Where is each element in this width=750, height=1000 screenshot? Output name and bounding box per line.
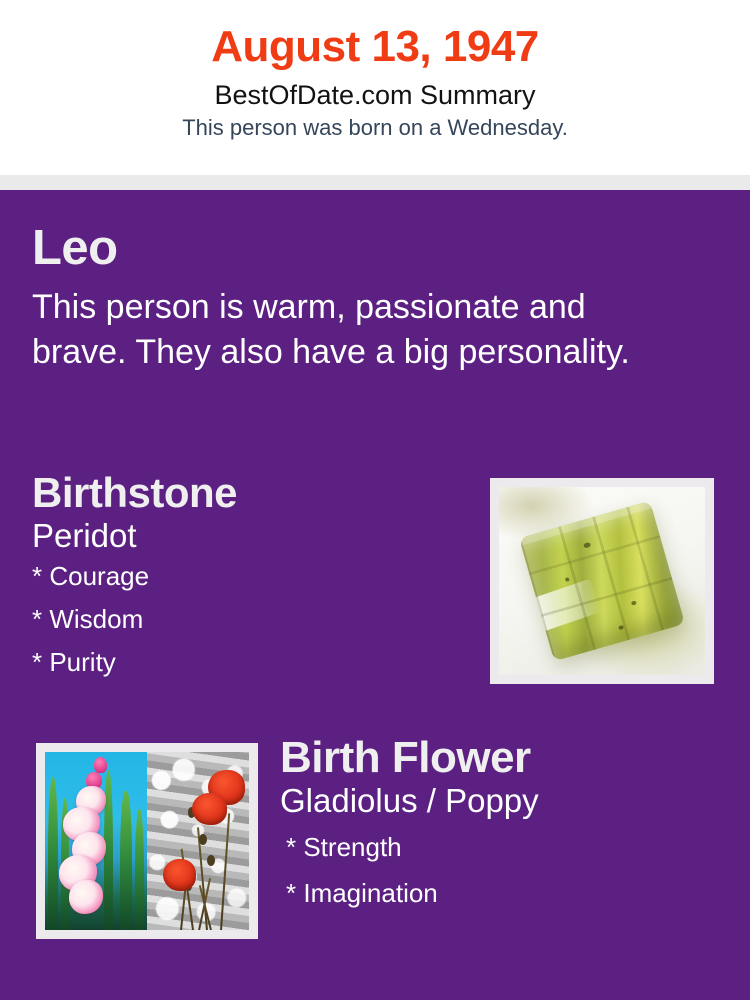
birthstone-trait-list: * Courage * Wisdom * Purity bbox=[32, 554, 462, 692]
birth-flower-image-frame bbox=[36, 743, 258, 939]
site-summary-label: BestOfDate.com Summary bbox=[0, 71, 750, 110]
zodiac-sign-title: Leo bbox=[32, 224, 692, 273]
birth-flower-image bbox=[45, 752, 249, 930]
leaf-shape bbox=[135, 809, 144, 930]
header-divider bbox=[0, 175, 750, 190]
zodiac-section: Leo This person is warm, passionate and … bbox=[32, 224, 692, 374]
list-item: * Strength bbox=[280, 834, 730, 880]
gem-inclusion bbox=[618, 625, 624, 630]
leaf-shape bbox=[48, 777, 58, 930]
poppy-bloom bbox=[163, 859, 196, 891]
summary-card: August 13, 1947 BestOfDate.com Summary T… bbox=[0, 0, 750, 1000]
born-day-text: This person was born on a Wednesday. bbox=[0, 110, 750, 141]
zodiac-description: This person is warm, passionate and brav… bbox=[32, 273, 682, 374]
poppy-stem bbox=[220, 813, 230, 930]
gem-inclusion bbox=[583, 542, 591, 549]
poppy-seed-pod bbox=[207, 855, 215, 866]
birthstone-title: Birthstone bbox=[32, 472, 462, 515]
page-title: August 13, 1947 bbox=[0, 0, 750, 71]
birth-flower-trait-list: * Strength * Imagination bbox=[280, 820, 730, 926]
gem-shape bbox=[519, 501, 685, 661]
gladiolus-photo-half bbox=[45, 752, 147, 930]
birth-flower-name: Gladiolus / Poppy bbox=[280, 781, 730, 820]
flower-composite bbox=[45, 752, 249, 930]
gem-inclusion bbox=[631, 601, 637, 606]
poppy-photo-half bbox=[147, 752, 249, 930]
gladiolus-bloom bbox=[69, 880, 103, 914]
birthstone-section: Birthstone Peridot * Courage * Wisdom * … bbox=[32, 472, 462, 692]
content-panel: Leo This person is warm, passionate and … bbox=[0, 190, 750, 1000]
poppy-seed-pod bbox=[199, 834, 207, 845]
birth-flower-section: Birth Flower Gladiolus / Poppy * Strengt… bbox=[280, 736, 730, 926]
gem-inclusion bbox=[564, 577, 569, 582]
list-item: * Courage bbox=[32, 563, 462, 606]
gladiolus-bud bbox=[94, 757, 107, 773]
list-item: * Purity bbox=[32, 649, 462, 692]
birthstone-image bbox=[499, 487, 705, 675]
birth-flower-title: Birth Flower bbox=[280, 736, 730, 781]
peridot-gemstone-icon bbox=[499, 487, 705, 675]
birthstone-name: Peridot bbox=[32, 515, 462, 554]
leaf-shape bbox=[120, 791, 131, 930]
list-item: * Imagination bbox=[280, 880, 730, 926]
birthstone-image-frame bbox=[490, 478, 714, 684]
header: August 13, 1947 BestOfDate.com Summary T… bbox=[0, 0, 750, 175]
list-item: * Wisdom bbox=[32, 606, 462, 649]
poppy-bloom bbox=[192, 793, 227, 825]
